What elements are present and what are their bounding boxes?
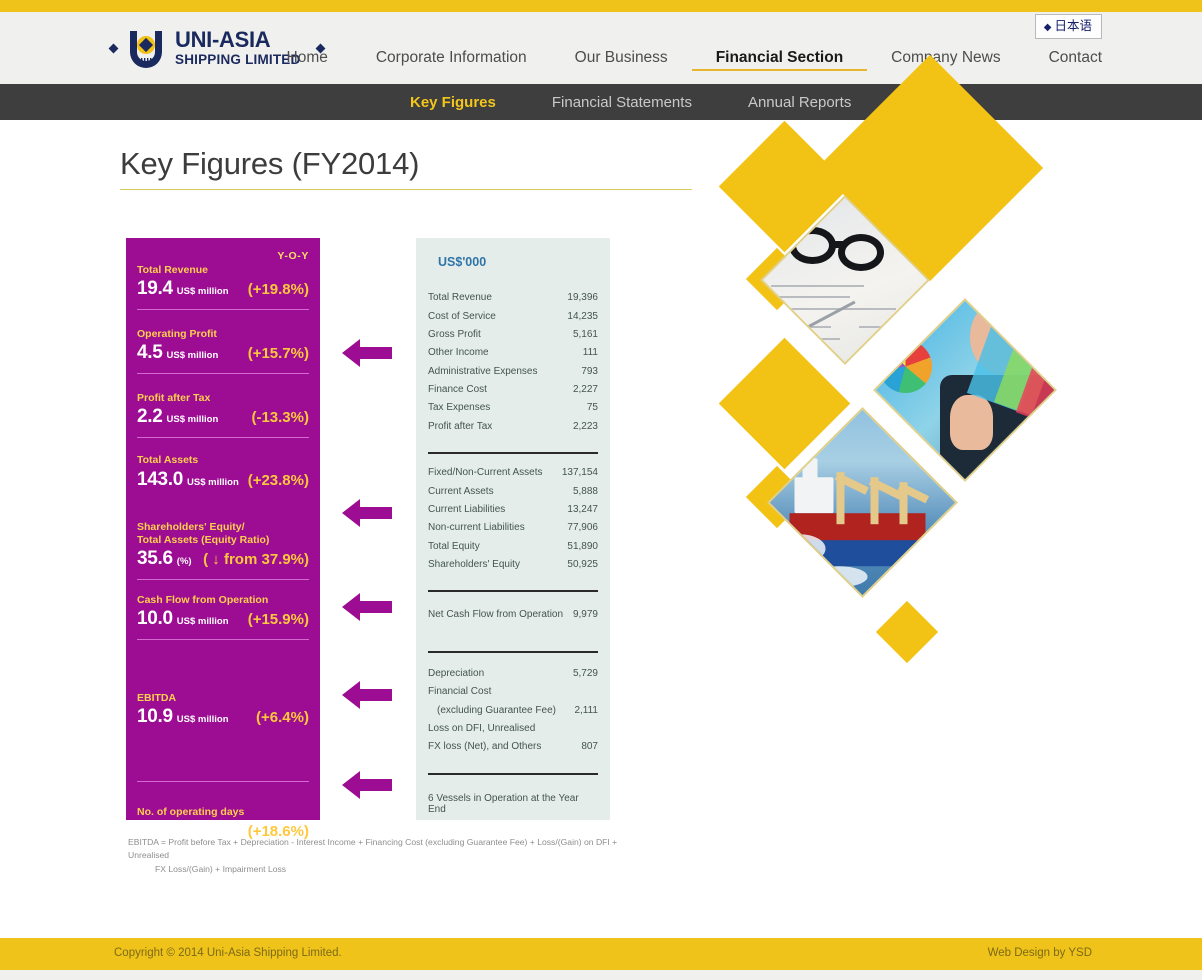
nav-item-financial-section[interactable]: Financial Section: [692, 49, 867, 71]
fin-row: Total Equity 51,890: [428, 538, 598, 556]
fin-row: Profit after Tax 2,223: [428, 418, 598, 436]
fin-row-value: 5,729: [573, 669, 598, 679]
ebitda-footnote-line2: FX Loss/(Gain) + Impairment Loss: [128, 863, 618, 876]
vessels-note: 6 Vessels in Operation at the Year End: [428, 779, 598, 815]
nav-item-our-business[interactable]: Our Business: [551, 49, 692, 71]
fin-row-label: Shareholders' Equity: [428, 560, 520, 570]
diamond-bullet-icon: [109, 43, 119, 53]
kpi-change: (+15.9%): [248, 611, 309, 628]
fin-row-value: 2,227: [573, 385, 598, 395]
financial-divider-1: [428, 452, 598, 454]
fin-row: Financial Cost: [428, 683, 598, 701]
kpi-value: 35.6: [137, 548, 173, 570]
financial-divider-2: [428, 590, 598, 592]
fin-row-label: Administrative Expenses: [428, 367, 538, 377]
fin-row-value: 5,161: [573, 330, 598, 340]
diamond-icon: ◆: [1044, 22, 1052, 33]
site-footer: Copyright © 2014 Uni-Asia Shipping Limit…: [0, 938, 1202, 970]
fin-row-value: 51,890: [567, 542, 598, 552]
fin-row-value: 50,925: [567, 560, 598, 570]
subnav-item-financial-statements[interactable]: Financial Statements: [524, 94, 720, 111]
fin-row-value: 77,906: [567, 523, 598, 533]
main-navigation: Home Corporate Information Our Business …: [263, 49, 1103, 71]
kpi-panel: Y-O-Y Total Revenue 19.4 US$ million (+1…: [126, 238, 320, 820]
nav-item-corporate-information[interactable]: Corporate Information: [352, 49, 551, 71]
fin-row-label: Total Revenue: [428, 293, 492, 303]
fin-row: Total Revenue 19,396: [428, 289, 598, 307]
kpi-label: Cash Flow from Operation: [137, 594, 309, 607]
fin-row: Cost of Service 14,235: [428, 307, 598, 325]
page-root: UNI-ASIA SHIPPING LIMITED ◆日本语 Home Corp…: [0, 0, 1202, 980]
fin-row-label: Other Income: [428, 348, 489, 358]
fin-row-value: 75: [587, 403, 598, 413]
kpi-item-operating-days: No. of operating days 1,953 days (+18.6%…: [137, 738, 309, 852]
fin-row: Net Cash Flow from Operation 9,979: [428, 606, 598, 624]
page-title-block: Key Figures (FY2014): [120, 146, 692, 190]
yellow-diamond-small-3: [876, 601, 938, 663]
uniasia-logo-icon: [126, 28, 166, 68]
kpi-change: (-13.3%): [251, 409, 309, 426]
kpi-unit: US$ million: [187, 477, 239, 488]
fin-row-value: 9,979: [573, 610, 598, 620]
fin-row: Loss on DFI, Unrealised: [428, 720, 598, 738]
kpi-label: Profit after Tax: [137, 392, 309, 405]
fin-row-value: 793: [581, 367, 598, 377]
footer-copyright: Copyright © 2014 Uni-Asia Shipping Limit…: [114, 947, 342, 959]
fin-row-label: Financial Cost: [428, 687, 491, 697]
arrow-left-operating-days: [342, 770, 392, 800]
kpi-item-profit-after-tax: Profit after Tax 2.2 US$ million (-13.3%…: [137, 374, 309, 438]
fin-row-value: 111: [583, 348, 598, 358]
arrow-left-ebitda: [342, 680, 392, 710]
kpi-value: 4.5: [137, 342, 163, 364]
site-header: UNI-ASIA SHIPPING LIMITED ◆日本语 Home Corp…: [0, 12, 1202, 84]
fin-row-label: Non-current Liabilities: [428, 523, 525, 533]
fin-row-label: Cost of Service: [428, 312, 496, 322]
language-switch-label: 日本语: [1054, 19, 1092, 33]
kpi-item-total-revenue: Total Revenue 19.4 US$ million (+19.8%): [137, 262, 309, 310]
arrow-left-cash-flow: [342, 592, 392, 622]
kpi-change: ( ↓ from 37.9%): [203, 551, 309, 568]
page-title-underline: [120, 189, 692, 190]
kpi-item-ebitda: EBITDA 10.9 US$ million (+6.4%): [137, 640, 309, 738]
fin-row-value: 2,111: [574, 706, 598, 716]
nav-item-company-news[interactable]: Company News: [867, 49, 1024, 71]
fin-row-value: 5,888: [573, 487, 598, 497]
fin-row: (excluding Guarantee Fee) 2,111: [428, 701, 598, 719]
fin-row-label: Gross Profit: [428, 330, 481, 340]
fin-row-label: Loss on DFI, Unrealised: [428, 724, 535, 734]
kpi-item-equity-ratio: Shareholders' Equity/ Total Assets (Equi…: [137, 501, 309, 580]
subnav-item-key-figures[interactable]: Key Figures: [410, 94, 524, 111]
kpi-change: (+6.4%): [256, 709, 309, 726]
fin-row-label: Fixed/Non-Current Assets: [428, 468, 543, 478]
financial-group-other: Depreciation 5,729 Financial Cost (exclu…: [428, 665, 598, 757]
language-switch-button[interactable]: ◆日本语: [1035, 14, 1102, 39]
subnav-item-annual-reports[interactable]: Annual Reports: [720, 94, 879, 111]
fin-row: Shareholders' Equity 50,925: [428, 556, 598, 574]
kpi-change: (+19.8%): [248, 281, 309, 298]
fin-row-value: 807: [581, 742, 598, 752]
fin-row-label: Finance Cost: [428, 385, 487, 395]
kpi-label: EBITDA: [137, 692, 309, 705]
fin-row-value: 137,154: [562, 468, 598, 478]
fin-row: Fixed/Non-Current Assets 137,154: [428, 464, 598, 482]
financial-panel-header: US$'000: [428, 238, 598, 269]
kpi-value: 10.0: [137, 608, 173, 630]
fin-row: Administrative Expenses 793: [428, 363, 598, 381]
kpi-label: Total Assets: [137, 454, 309, 467]
ebitda-footnote-line1: EBITDA = Profit before Tax + Depreciatio…: [128, 836, 618, 863]
fin-row: Depreciation 5,729: [428, 665, 598, 683]
fin-row-label: Profit after Tax: [428, 422, 492, 432]
fin-row-label: Net Cash Flow from Operation: [428, 610, 563, 620]
fin-row-label: Current Liabilities: [428, 505, 505, 515]
kpi-value: 10.9: [137, 706, 173, 728]
nav-item-home[interactable]: Home: [263, 49, 352, 71]
financial-group-balance: Fixed/Non-Current Assets 137,154 Current…: [428, 464, 598, 574]
financial-divider-3: [428, 651, 598, 653]
kpi-label: Shareholders' Equity/ Total Assets (Equi…: [137, 521, 309, 547]
yoy-column-header: Y-O-Y: [126, 238, 320, 262]
financial-divider-4: [428, 773, 598, 775]
logo-title: UNI-ASIA: [175, 29, 300, 51]
fin-row-label: FX loss (Net), and Others: [428, 742, 541, 752]
kpi-unit: US$ million: [167, 414, 219, 425]
kpi-label: Operating Profit: [137, 328, 309, 341]
kpi-unit: US$ million: [177, 286, 229, 297]
financial-group-income: Total Revenue 19,396 Cost of Service 14,…: [428, 289, 598, 436]
nav-item-contact[interactable]: Contact: [1025, 49, 1102, 71]
fin-row-value: 13,247: [567, 505, 598, 515]
fin-row-label: (excluding Guarantee Fee): [428, 706, 556, 716]
kpi-unit: US$ million: [177, 616, 229, 627]
fin-row-label: Tax Expenses: [428, 403, 490, 413]
kpi-change: (+15.7%): [248, 345, 309, 362]
kpi-item-cash-flow: Cash Flow from Operation 10.0 US$ millio…: [137, 580, 309, 640]
fin-row: FX loss (Net), and Others 807: [428, 738, 598, 756]
kpi-unit: US$ million: [177, 714, 229, 725]
arrow-left-equity-ratio: [342, 498, 392, 528]
fin-row: Current Liabilities 13,247: [428, 501, 598, 519]
footer-shadow: [0, 970, 1202, 980]
fin-row: Gross Profit 5,161: [428, 326, 598, 344]
kpi-change: (+23.8%): [248, 472, 309, 489]
financial-summary-panel: US$'000 Total Revenue 19,396 Cost of Ser…: [416, 238, 610, 820]
fin-row-value: 2,223: [573, 422, 598, 432]
fin-row-value: 14,235: [567, 312, 598, 322]
decorative-diamond-collage: [700, 110, 1120, 640]
kpi-value: 19.4: [137, 278, 173, 300]
fin-row: Tax Expenses 75: [428, 399, 598, 417]
ebitda-footnote: EBITDA = Profit before Tax + Depreciatio…: [128, 836, 618, 876]
fin-row: Finance Cost 2,227: [428, 381, 598, 399]
fin-row-label: Current Assets: [428, 487, 494, 497]
fin-row: Current Assets 5,888: [428, 482, 598, 500]
fin-row-label: Depreciation: [428, 669, 484, 679]
kpi-label: Total Revenue: [137, 264, 309, 277]
fin-row-value: 19,396: [567, 293, 598, 303]
financial-group-cashflow: Net Cash Flow from Operation 9,979: [428, 606, 598, 624]
fin-row: Other Income 111: [428, 344, 598, 362]
arrow-left-operating-profit: [342, 338, 392, 368]
page-title: Key Figures (FY2014): [120, 146, 692, 189]
fin-row: Non-current Liabilities 77,906: [428, 519, 598, 537]
kpi-label: No. of operating days: [137, 806, 309, 819]
kpi-value: 2.2: [137, 406, 163, 428]
kpi-item-operating-profit: Operating Profit 4.5 US$ million (+15.7%…: [137, 310, 309, 374]
kpi-unit: US$ million: [167, 350, 219, 361]
kpi-item-total-assets: Total Assets 143.0 US$ million (+23.8%): [137, 438, 309, 500]
kpi-list: Total Revenue 19.4 US$ million (+19.8%) …: [126, 262, 320, 852]
footer-credit[interactable]: Web Design by YSD: [988, 947, 1092, 959]
kpi-value: 143.0: [137, 469, 183, 491]
kpi-unit: (%): [177, 556, 192, 567]
fin-row-label: Total Equity: [428, 542, 480, 552]
